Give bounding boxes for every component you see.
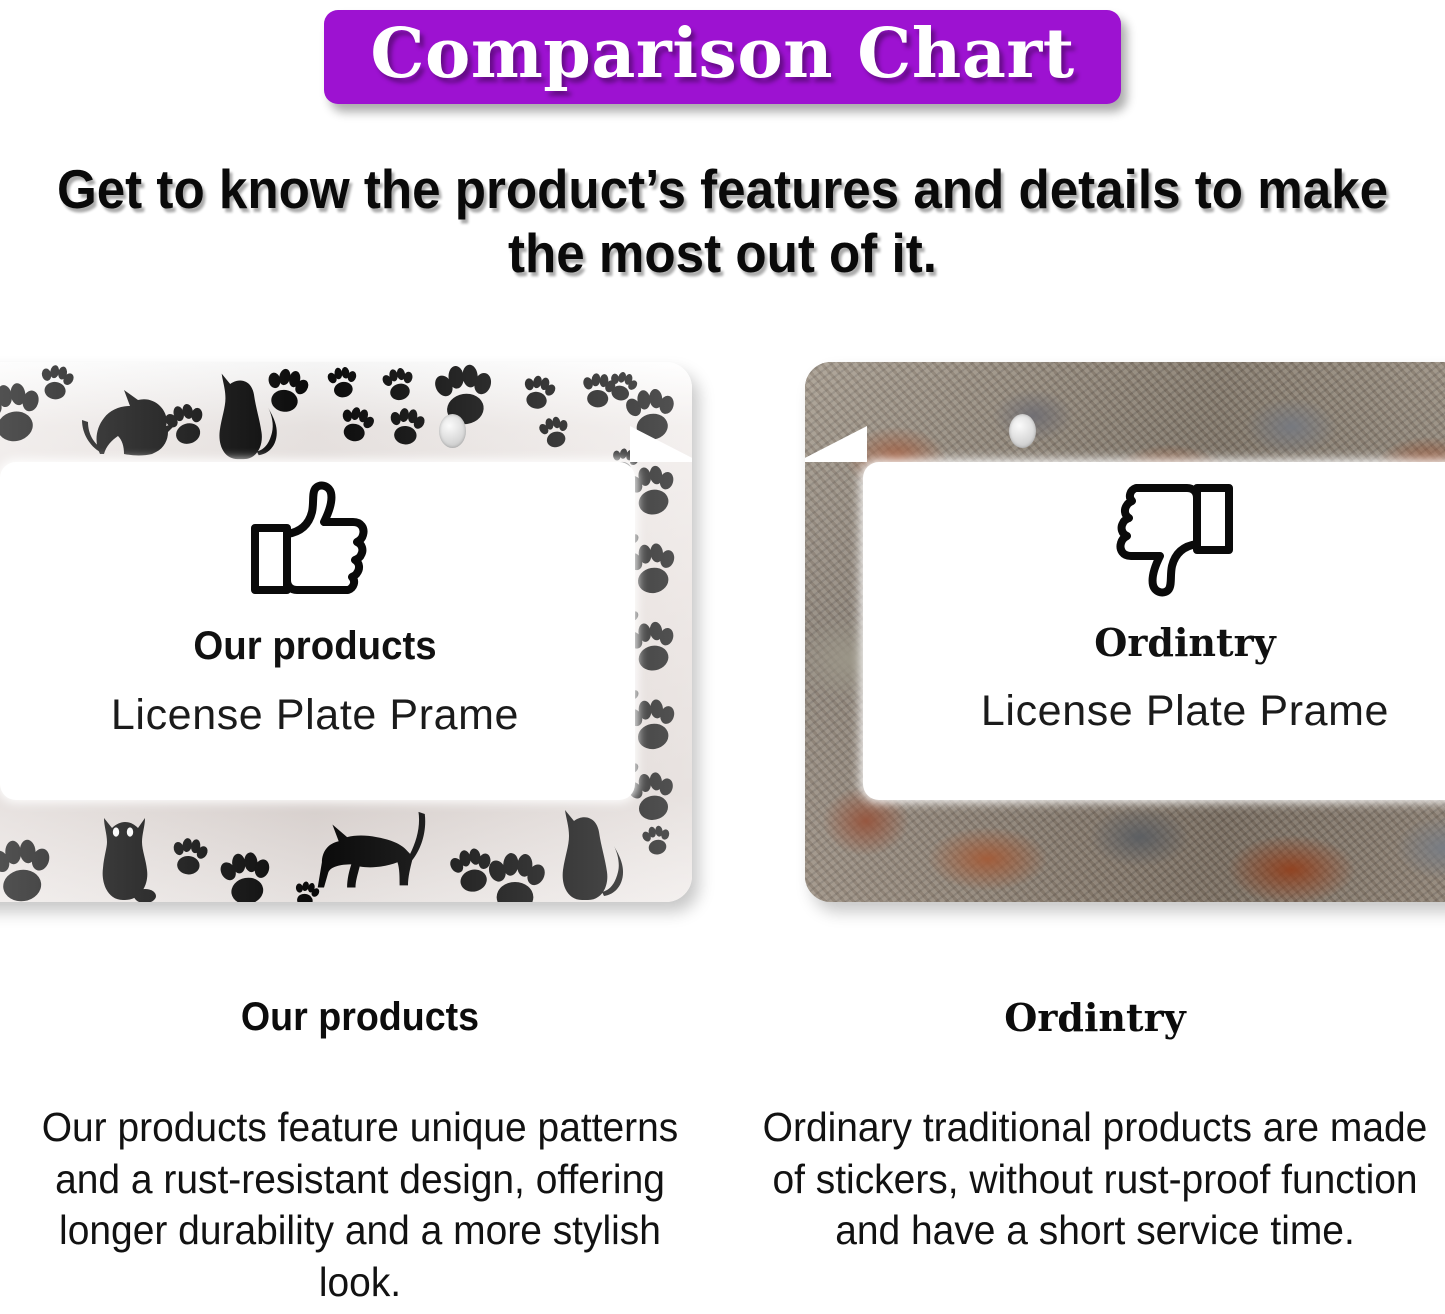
mounting-hole — [1009, 414, 1036, 448]
mounting-hole — [439, 414, 466, 448]
left-frame-caption-subtitle: License Plate Prame — [0, 691, 692, 740]
right-frame-caption-title: Ordintry — [805, 620, 1445, 665]
our-products-description-column: Our products Our products feature unique… — [20, 995, 700, 1309]
ordinary-product-license-plate-frame: Ordintry License Plate Prame — [805, 362, 1445, 902]
our-product-license-plate-frame: Our products License Plate Prame — [0, 362, 692, 902]
left-frame-caption: Our products License Plate Prame — [0, 624, 692, 740]
our-products-body-text: Our products feature unique patterns and… — [37, 1102, 683, 1309]
ordinary-description-column: Ordintry Ordinary traditional products a… — [745, 995, 1445, 1257]
right-frame-caption-subtitle: License Plate Prame — [805, 687, 1445, 736]
thumbs-up-icon — [249, 480, 369, 603]
ordinary-heading: Ordintry — [745, 995, 1445, 1040]
right-frame-caption: Ordintry License Plate Prame — [805, 620, 1445, 736]
ordinary-body-text: Ordinary traditional products are made o… — [763, 1102, 1428, 1257]
left-frame-caption-title: Our products — [0, 624, 677, 669]
thumbs-down-icon — [1115, 480, 1235, 603]
our-products-heading: Our products — [40, 995, 679, 1040]
